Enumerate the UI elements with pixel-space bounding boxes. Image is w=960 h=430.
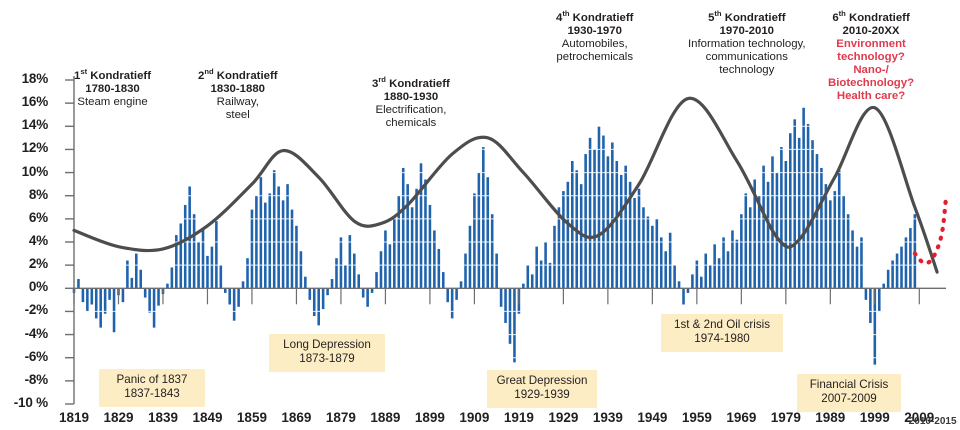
wave-years: 2010-20XX (828, 25, 914, 38)
wave-title: 2nd Kondratieff (198, 70, 278, 83)
wave-description-line: Environment (828, 38, 914, 51)
wave-description-line: technology? (828, 51, 914, 64)
y-axis-tick-label: 6% (0, 210, 48, 225)
y-axis-tick-label: 18% (0, 71, 48, 86)
y-axis-tick-label: -6% (0, 349, 48, 364)
y-axis-tick-label: 10% (0, 164, 48, 179)
wave-description-line: Health care? (828, 90, 914, 103)
wave-description-line: Automobiles, (556, 38, 633, 51)
annotation-years: 2007-2009 (804, 392, 894, 406)
wave-label-2: 2nd Kondratieff1830-1880Railway,steel (198, 70, 278, 122)
bars (73, 108, 916, 365)
wave-years: 1930-1970 (556, 25, 633, 38)
wave-title: 4th Kondratieff (556, 12, 633, 25)
x-axis-forecast-label: 2010-2015 (898, 416, 960, 427)
y-axis-tick-label: -10 % (0, 395, 48, 410)
annotation-years: 1837-1843 (106, 387, 198, 401)
annotation-title: Great Depression (494, 374, 590, 388)
wave-title: 3rd Kondratieff (372, 78, 450, 91)
plot-area (0, 0, 960, 430)
annotation-financial-crisis: Financial Crisis2007-2009 (797, 374, 901, 412)
wave-description-line: technology (688, 64, 806, 77)
annotation-title: Long Depression (276, 338, 378, 352)
wave-description-line: Steam engine (74, 96, 151, 109)
wave-description-line: Electrification, (372, 104, 450, 117)
annotation-title: Panic of 1837 (106, 373, 198, 387)
annotation-years: 1873-1879 (276, 352, 378, 366)
wave-label-5: 5th Kondratieff1970-2010Information tech… (688, 12, 806, 77)
y-axis-tick-label: 2% (0, 256, 48, 271)
y-axis-tick-label: -8% (0, 372, 48, 387)
y-axis-tick-label: 16% (0, 94, 48, 109)
wave-label-1: 1st Kondratieff1780-1830Steam engine (74, 70, 151, 109)
wave-description-line: steel (198, 109, 278, 122)
wave-years: 1830-1880 (198, 83, 278, 96)
wave-description-line: petrochemicals (556, 51, 633, 64)
wave-title: 6th Kondratieff (828, 12, 914, 25)
wave-description-line: Biotechnology? (828, 77, 914, 90)
y-axis-tick-label: 8% (0, 187, 48, 202)
annotation-title: Financial Crisis (804, 378, 894, 392)
wave-years: 1970-2010 (688, 25, 806, 38)
y-axis-tick-label: 0% (0, 279, 48, 294)
wave-description-line: Railway, (198, 96, 278, 109)
annotation-panic-of-1837: Panic of 18371837-1843 (99, 369, 205, 407)
wave-years: 1780-1830 (74, 83, 151, 96)
wave-title: 1st Kondratieff (74, 70, 151, 83)
kondratieff-wave-chart: 18%16%14%12%10%8%6%4%2%0%-2%-4%-6%-8%-10… (0, 0, 960, 430)
y-axis-tick-label: -4% (0, 326, 48, 341)
bar-gridlines (74, 80, 946, 404)
wave-title: 5th Kondratieff (688, 12, 806, 25)
wave-description-line: chemicals (372, 117, 450, 130)
y-axis-tick-label: 14% (0, 117, 48, 132)
annotation-years: 1929-1939 (494, 388, 590, 402)
y-axis-tick-label: 4% (0, 233, 48, 248)
y-axis-tick-label: -2% (0, 302, 48, 317)
axes (65, 76, 946, 404)
wave-label-6: 6th Kondratieff2010-20XXEnvironmenttechn… (828, 12, 914, 103)
annotation-years: 1974-1980 (668, 332, 776, 346)
annotation-great-depression: Great Depression1929-1939 (487, 370, 597, 408)
wave-label-3: 3rd Kondratieff1880-1930Electrification,… (372, 78, 450, 130)
annotation-oil-crisis: 1st & 2nd Oil crisis1974-1980 (661, 314, 783, 352)
wave-description-line: Information technology, (688, 38, 806, 51)
wave-description-line: communications (688, 51, 806, 64)
wave-description-line: Nano-/ (828, 64, 914, 77)
annotation-title: 1st & 2nd Oil crisis (668, 318, 776, 332)
annotation-long-depression: Long Depression1873-1879 (269, 334, 385, 372)
wave-label-4: 4th Kondratieff1930-1970Automobiles,petr… (556, 12, 633, 64)
y-axis-tick-label: 12% (0, 140, 48, 155)
wave-years: 1880-1930 (372, 91, 450, 104)
